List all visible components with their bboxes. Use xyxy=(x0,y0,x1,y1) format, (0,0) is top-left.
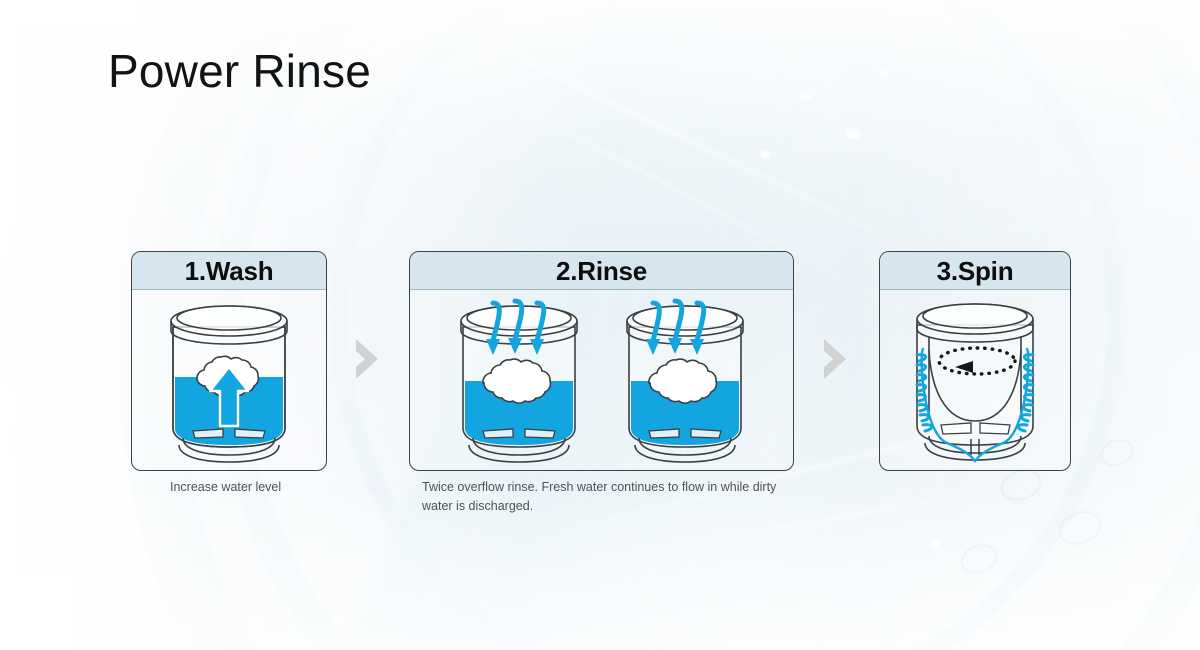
step-card-header-rinse: 2.Rinse xyxy=(410,252,793,290)
step-card-body-rinse xyxy=(410,290,793,471)
washing-drum-illustration-rinse-1 xyxy=(443,295,595,467)
background-drum-hole xyxy=(956,539,1001,578)
chevron-right-icon xyxy=(352,337,382,381)
chevron-right-icon xyxy=(820,337,850,381)
step-card-body-spin xyxy=(880,290,1070,471)
step-card-spin: 3.Spin xyxy=(879,251,1071,471)
power-rinse-infographic: Power Rinse 1.Wash xyxy=(0,0,1200,650)
step-card-wash: 1.Wash xyxy=(131,251,327,471)
washing-drum-illustration-spin xyxy=(895,293,1055,469)
background-drum-hole xyxy=(1097,435,1138,471)
step-card-rinse: 2.Rinse xyxy=(409,251,794,471)
step-header-label: 2.Rinse xyxy=(556,258,647,284)
washing-drum-illustration-wash xyxy=(153,295,305,467)
step-card-header-wash: 1.Wash xyxy=(132,252,326,290)
background-streak xyxy=(335,0,965,276)
step-card-body-wash xyxy=(132,290,326,471)
background-water-droplet xyxy=(845,128,861,139)
background-water-droplet xyxy=(930,540,941,548)
step-header-label: 3.Spin xyxy=(937,258,1014,284)
background-water-droplet xyxy=(1010,590,1019,597)
step-header-label: 1.Wash xyxy=(185,258,274,284)
background-drum-hole xyxy=(1054,505,1106,550)
step-card-header-spin: 3.Spin xyxy=(880,252,1070,290)
washing-drum-illustration-rinse-2 xyxy=(609,295,761,467)
page-title: Power Rinse xyxy=(108,44,371,98)
background-water-droplet xyxy=(880,70,889,77)
background-water-droplet xyxy=(800,92,812,101)
step-caption-rinse: Twice overflow rinse. Fresh water contin… xyxy=(422,478,802,515)
step-caption-wash: Increase water level xyxy=(170,478,390,497)
background-water-droplet xyxy=(760,150,770,158)
